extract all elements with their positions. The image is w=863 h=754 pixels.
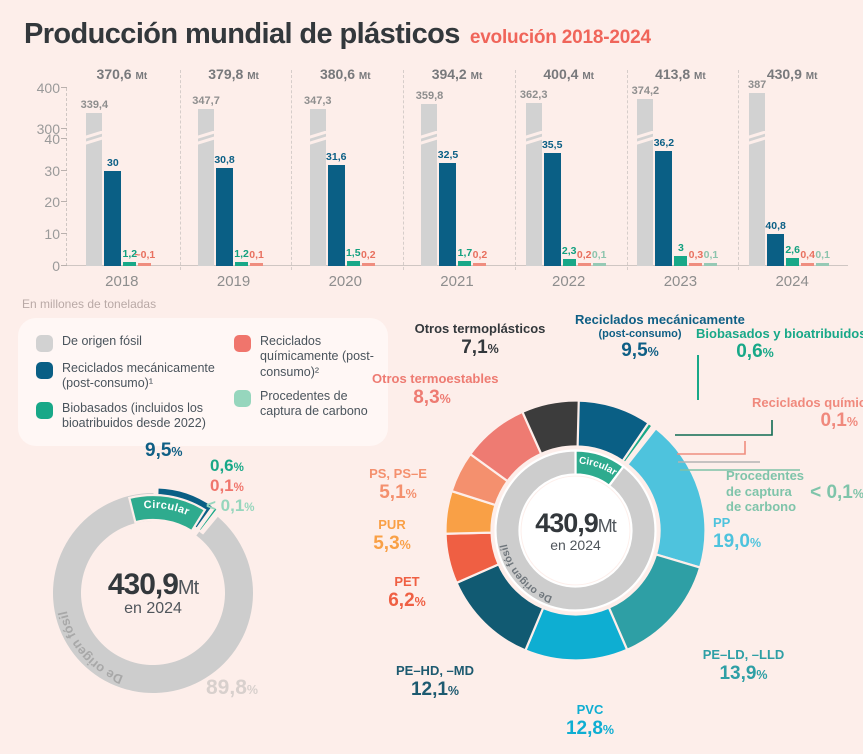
bar-value-label: 387 (748, 79, 766, 91)
label-chem-right: Reciclados químicamente 0,1% (752, 395, 858, 432)
bar-2021-s1: 32,5 (439, 163, 456, 266)
bar-value-label: 0,3 (689, 249, 704, 261)
bar-value-label: 3 (678, 242, 684, 254)
bar-value-label: 1,7 (458, 247, 473, 259)
bar-group-year: 2018 (66, 273, 178, 290)
y-tick-40: 40 (18, 131, 60, 147)
bar-2019-s2: 1,2 (235, 262, 248, 266)
legend-label: Procedentes de captura de carbono (260, 389, 384, 420)
bar-2018-s0: 339,4 (86, 113, 102, 266)
bar-2023-s2: 3 (674, 256, 687, 266)
bar-group-year: 2022 (513, 273, 625, 290)
axis-break-marker (196, 131, 216, 147)
label-bio-left: 0,6% (210, 456, 244, 476)
bar-value-label: 347,7 (192, 95, 220, 107)
bar-value-label: 362,3 (520, 89, 548, 101)
label-pet: PET 6,2% (368, 575, 446, 612)
y-tick-20: 20 (18, 194, 60, 210)
bar-2022-s4: 0,1 (593, 263, 606, 266)
label-mech-right: Reciclados mecánicamente (post-consumo) … (575, 313, 705, 362)
bars: 347,730,81,20,1 (178, 88, 290, 266)
axis-break-marker (308, 131, 328, 147)
bar-group-total: 380,6 Mt (289, 66, 401, 82)
header: Producción mundial de plásticos evolució… (24, 18, 651, 51)
legend: De origen fósilReciclados mecánicamente … (18, 318, 388, 446)
bar-value-label: ~0,1 (134, 249, 155, 261)
legend-swatch-icon (234, 390, 251, 407)
donut-chart-materials: Circular De origen fósil 430,9Mt en 2024 (443, 398, 708, 663)
axis-break-marker (419, 131, 439, 147)
bar-2019-s3: 0,1 (250, 263, 263, 266)
bar-value-label: 347,3 (304, 95, 332, 107)
bar-value-label: 30,8 (214, 154, 234, 166)
bar-chart-units: En millones de toneladas (22, 297, 156, 311)
label-bio-right: Biobasados y bioatribuidos 0,6% (696, 326, 814, 363)
bar-value-label: 30 (107, 157, 119, 169)
bar-group-year: 2024 (736, 273, 848, 290)
bar-group-year: 2019 (178, 273, 290, 290)
bar-2020-s0: 347,3 (310, 109, 326, 266)
bars: 347,331,61,50,2 (289, 88, 401, 266)
bar-value-label: 0,2 (473, 249, 488, 261)
label-pvc: PVC 12,8% (545, 703, 635, 740)
legend-swatch-icon (36, 402, 53, 419)
label-carbon-left: < 0,1% (206, 496, 255, 516)
bar-value-label: 0,1 (815, 249, 830, 261)
bar-value-label: 0,2 (361, 249, 376, 261)
bar-2023-s0: 374,2 (637, 99, 653, 267)
bar-value-label: 35,5 (542, 139, 562, 151)
bar-2020-s2: 1,5 (347, 261, 360, 266)
bar-value-label: 36,2 (654, 137, 674, 149)
bar-value-label: 0,1 (592, 249, 607, 261)
label-pur: PUR 5,3% (352, 518, 432, 555)
legend-label: Reciclados mecánicamente (post-consumo)¹ (62, 361, 226, 392)
bar-2022-s0: 362,3 (526, 103, 542, 266)
bar-2019-s1: 30,8 (216, 168, 233, 266)
bars: 38740,82,60,40,1 (736, 88, 848, 266)
label-fossil-left: 89,8% (206, 676, 258, 700)
bar-2022-s1: 35,5 (544, 153, 561, 266)
label-chem-left: 0,1% (210, 476, 244, 496)
bar-2024-s4: 0,1 (816, 263, 829, 266)
bar-value-label: 0,1 (704, 249, 719, 261)
label-pp: PP 19,0% (713, 516, 761, 553)
bar-group-year: 2023 (625, 273, 737, 290)
bar-group-2020: 380,6 Mt2020347,331,61,50,2 (289, 88, 401, 266)
bar-group-2019: 379,8 Mt2019347,730,81,20,1 (178, 88, 290, 266)
bar-chart: 400300403020100 370,6 Mt2018339,4301,2~0… (18, 70, 848, 290)
legend-item-chemical-recycled[interactable]: Reciclados químicamente (post-consumo)² (234, 334, 384, 380)
bar-group-total: 379,8 Mt (178, 66, 290, 82)
axis-break-marker (635, 131, 655, 147)
bar-2024-s2: 2,6 (786, 258, 799, 266)
bar-2022-s2: 2,3 (563, 259, 576, 266)
bar-value-label: 359,8 (416, 90, 444, 102)
legend-item-carbon-capture[interactable]: Procedentes de captura de carbono (234, 389, 384, 420)
bar-group-year: 2021 (401, 273, 513, 290)
bar-2020-s3: 0,2 (362, 263, 375, 266)
bar-plot-area: 370,6 Mt2018339,4301,2~0,1379,8 Mt201934… (66, 88, 848, 266)
bar-2021-s2: 1,7 (458, 261, 471, 266)
bar-group-2023: 413,8 Mt2023374,236,230,30,1 (625, 88, 737, 266)
bar-group-total: 413,8 Mt (625, 66, 737, 82)
bar-2023-s3: 0,3 (689, 263, 702, 266)
bar-value-label: 374,2 (632, 85, 660, 97)
bar-2024-s0: 387 (749, 93, 765, 266)
bar-value-label: 2,3 (562, 245, 577, 257)
bar-2018-s3: ~0,1 (138, 263, 151, 266)
bars: 339,4301,2~0,1 (66, 88, 178, 266)
bar-value-label: 1,5 (346, 247, 361, 259)
axis-break-marker (524, 131, 544, 147)
legend-label: Biobasados (incluidos los bioatribuidos … (62, 401, 226, 432)
bar-value-label: 0,2 (577, 249, 592, 261)
legend-item-mechanical-recycled[interactable]: Reciclados mecánicamente (post-consumo)¹ (36, 361, 226, 392)
bar-value-label: 339,4 (81, 99, 109, 111)
bars: 362,335,52,30,20,1 (513, 88, 625, 266)
label-otros-termoplasticos: Otros termoplásticos 7,1% (400, 322, 560, 359)
legend-swatch-icon (36, 362, 53, 379)
label-peld: PE–LD, –LLD 13,9% (676, 648, 811, 685)
bar-value-label: 0,1 (249, 249, 264, 261)
donut-right-svg: Circular De origen fósil (443, 398, 708, 663)
bar-2019-s0: 347,7 (198, 109, 214, 266)
legend-item-biobased[interactable]: Biobasados (incluidos los bioatribuidos … (36, 401, 226, 432)
axis-break-marker (84, 131, 104, 147)
label-otros-termoestables: Otros termoestables 8,3% (372, 372, 492, 409)
y-tick-0: 0 (18, 258, 60, 274)
y-tick-30: 30 (18, 163, 60, 179)
bar-group-total: 370,6 Mt (66, 66, 178, 82)
bar-group-2024: 430,9 Mt202438740,82,60,40,1 (736, 88, 848, 266)
label-carbon-right: Procedentes de captura de carbono < 0,1% (726, 468, 863, 515)
bar-2018-s2: 1,2 (123, 262, 136, 266)
bar-2021-s0: 359,8 (421, 104, 437, 266)
bar-group-2021: 394,2 Mt2021359,832,51,70,2 (401, 88, 513, 266)
legend-label: Reciclados químicamente (post-consumo)² (260, 334, 384, 380)
label-ps: PS, PS–E 5,1% (352, 467, 444, 504)
bar-value-label: 32,5 (438, 149, 458, 161)
bar-value-label: 31,6 (326, 151, 346, 163)
bar-group-year: 2020 (289, 273, 401, 290)
bar-2021-s3: 0,2 (473, 263, 486, 266)
bar-group-2022: 400,4 Mt2022362,335,52,30,20,1 (513, 88, 625, 266)
bar-value-label: 40,8 (765, 220, 785, 232)
legend-column-2: Reciclados químicamente (post-consumo)²P… (234, 334, 384, 428)
y-tick-400: 400 (18, 80, 60, 96)
bar-group-2018: 370,6 Mt2018339,4301,2~0,1 (66, 88, 178, 266)
label-pehd: PE–HD, –MD 12,1% (370, 664, 500, 701)
axis-break-marker (747, 131, 767, 147)
bar-2024-s1: 40,8 (767, 234, 784, 266)
bar-group-total: 394,2 Mt (401, 66, 513, 82)
bars: 374,236,230,30,1 (625, 88, 737, 266)
bar-value-label: 1,2 (234, 248, 249, 260)
legend-swatch-icon (36, 335, 53, 352)
y-tick-10: 10 (18, 226, 60, 242)
bar-2023-s1: 36,2 (655, 151, 672, 266)
legend-label: De origen fósil (62, 334, 142, 352)
page-subtitle: evolución 2018-2024 (470, 27, 651, 49)
bar-value-label: 2,6 (785, 244, 800, 256)
bar-2020-s1: 31,6 (328, 165, 345, 266)
legend-item-fossil[interactable]: De origen fósil (36, 334, 226, 352)
y-axis-labels: 400300403020100 (18, 88, 60, 266)
bar-2023-s4: 0,1 (704, 263, 717, 266)
donut-right-hole (522, 477, 630, 585)
bar-2024-s3: 0,4 (801, 263, 814, 266)
bar-group-total: 400,4 Mt (513, 66, 625, 82)
legend-swatch-icon (234, 335, 251, 352)
donut-chart-origin: De origen fósil Circular 430,9Mt en 2024… (38, 478, 268, 708)
legend-column-1: De origen fósilReciclados mecánicamente … (36, 334, 226, 440)
label-mech-left: 9,5% (145, 440, 183, 462)
page-title: Producción mundial de plásticos (24, 18, 460, 51)
bars: 359,832,51,70,2 (401, 88, 513, 266)
bar-value-label: 0,4 (800, 249, 815, 261)
bar-2018-s1: 30 (104, 171, 121, 266)
bar-2022-s3: 0,2 (578, 263, 591, 266)
